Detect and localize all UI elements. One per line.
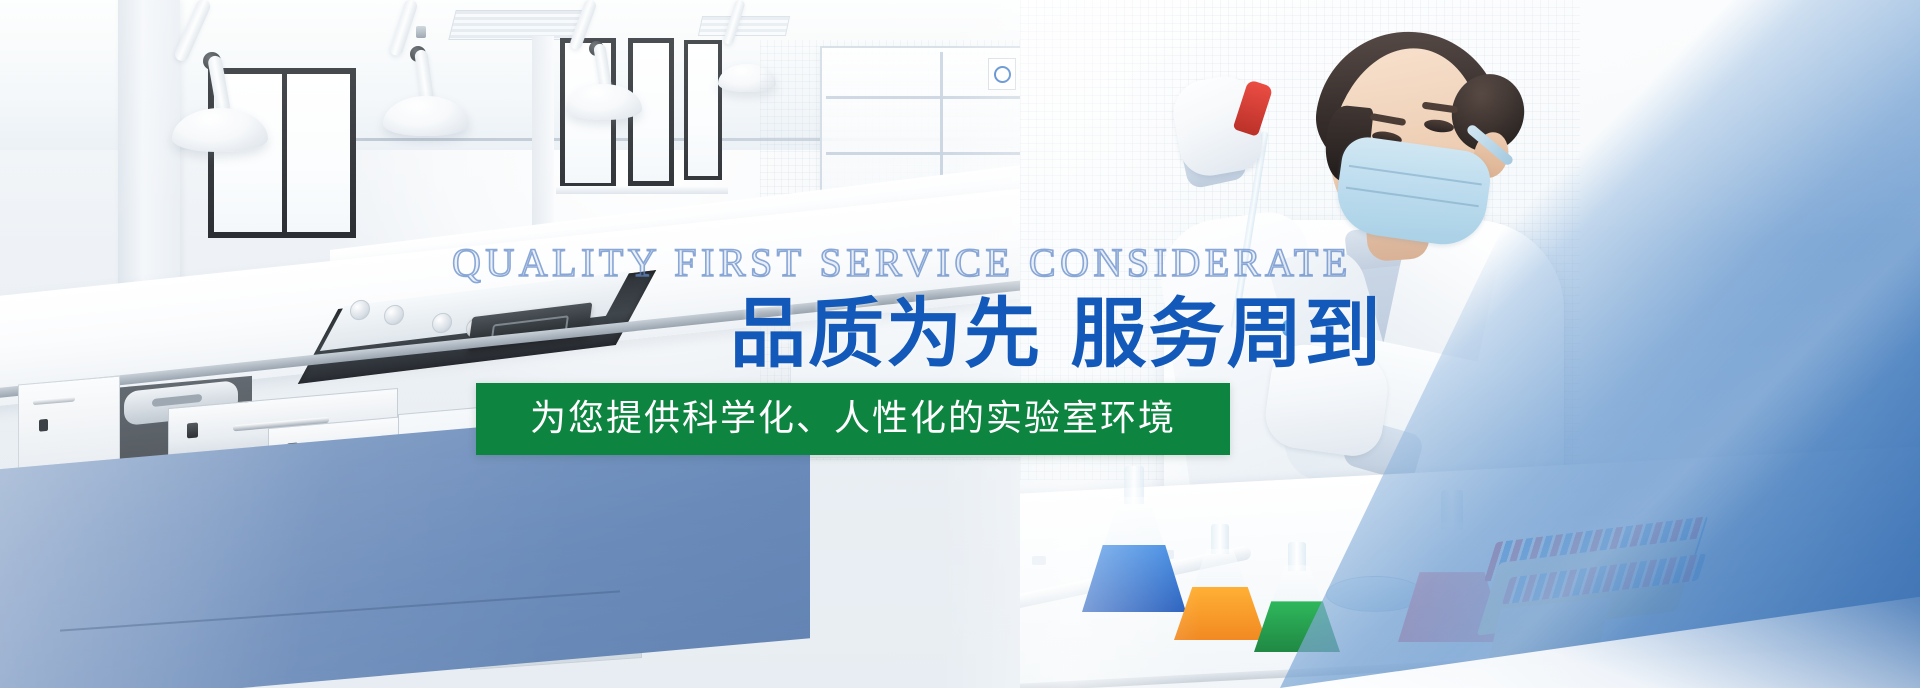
banner-subtitle-bar: 为您提供科学化、人性化的实验室环境 <box>476 383 1230 455</box>
banner-text-overlay: QUALITY FIRST SERVICE CONSIDERATE 品质为先 服… <box>0 0 1920 688</box>
banner-subtitle-text: 为您提供科学化、人性化的实验室环境 <box>530 401 1176 437</box>
banner-english-tagline: QUALITY FIRST SERVICE CONSIDERATE <box>452 243 1352 283</box>
banner-headline: 品质为先 服务周到 <box>730 296 1382 372</box>
hero-banner: QUALITY FIRST SERVICE CONSIDERATE 品质为先 服… <box>0 0 1920 688</box>
